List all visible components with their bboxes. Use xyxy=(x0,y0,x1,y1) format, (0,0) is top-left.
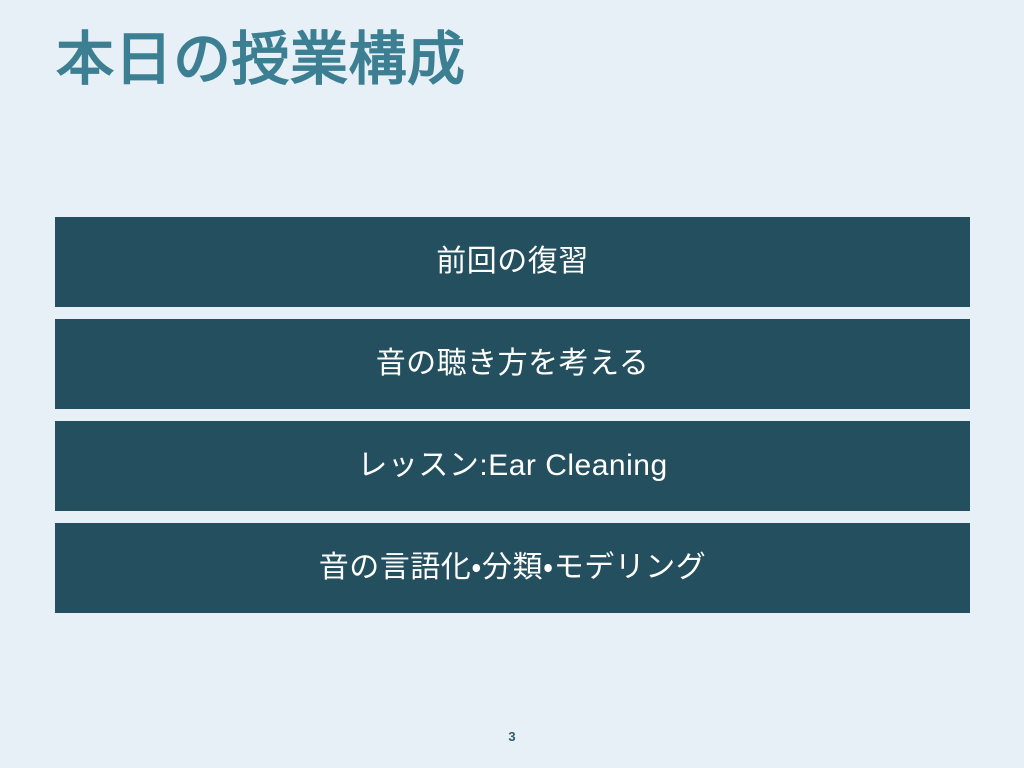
agenda-item-4[interactable]: 音の言語化・分類・モデリング xyxy=(55,523,970,613)
agenda-list: 前回の復習 音の聴き方を考える レッスン:Ear Cleaning 音の言語化・… xyxy=(55,217,970,613)
agenda-item-label: 音の言語化・分類・モデリング xyxy=(319,550,706,586)
agenda-item-3[interactable]: レッスン:Ear Cleaning xyxy=(55,421,970,511)
agenda-item-label: 前回の復習 xyxy=(436,244,589,280)
agenda-item-1[interactable]: 前回の復習 xyxy=(55,217,970,307)
agenda-item-label: 音の聴き方を考える xyxy=(376,346,650,382)
page-title: 本日の授業構成 xyxy=(56,27,466,94)
page-number: 3 xyxy=(0,729,1024,744)
agenda-item-label: レッスン:Ear Cleaning xyxy=(357,448,667,484)
agenda-item-2[interactable]: 音の聴き方を考える xyxy=(55,319,970,409)
slide-root: 本日の授業構成 前回の復習 音の聴き方を考える レッスン:Ear Cleanin… xyxy=(0,0,1024,768)
